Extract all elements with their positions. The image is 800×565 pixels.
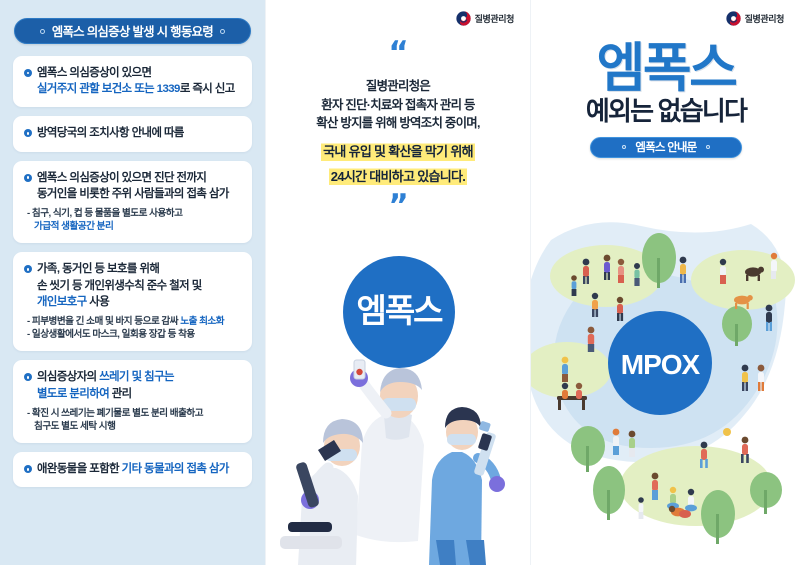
statement-line: 질병관리청은 <box>274 77 522 96</box>
card-line-text: 엠폭스 의심증상이 있으면 진단 전까지 <box>37 172 206 184</box>
statement-highlight-line: 24시간 대비하고 있습니다. <box>329 167 467 187</box>
sub-dash: - <box>27 408 30 419</box>
sub-dash: - <box>27 208 30 219</box>
scientist-with-microscope <box>280 419 363 565</box>
sub-dash: - <box>27 316 30 327</box>
bullet-dot-icon <box>24 174 32 182</box>
page-subtitle: 예외는 없습니다 <box>531 97 800 126</box>
cover-badge: 엠폭스 안내문 <box>590 137 742 158</box>
list-item: 방역당국의 조치사항 안내에 따름 <box>13 116 252 151</box>
list-item: 애완동물을 포함한 기타 동물과의 접촉 삼가 <box>13 452 252 487</box>
action-guide-card-list: 엠폭스 의심증상이 있으면 실거주지 관할 보건소 또는 1339로 즉시 신고… <box>10 56 255 487</box>
card-line-text: 동거인을 비롯한 주위 사람들과의 접촉 삼가 <box>37 188 229 200</box>
taegeuk-logo-icon <box>726 11 741 26</box>
sub-text: 피부병변을 긴 소매 및 바지 등으로 감싸 <box>32 316 180 327</box>
card-line-text: 손 씻기 등 개인위생수칙 준수 철저 및 <box>37 280 202 292</box>
sub-text: 확진 시 쓰레기는 폐기물로 별도 분리 배출하고 <box>32 408 203 419</box>
list-item: 의심증상자의 쓰레기 및 침구는 별도로 분리하여 관리 - 확진 시 쓰레기는… <box>13 360 252 443</box>
circle-outline-icon <box>706 145 711 150</box>
card-line-text: 관리 <box>109 388 131 400</box>
circle-outline-icon <box>622 145 627 150</box>
kdca-logo-label: 질병관리청 <box>475 12 514 25</box>
left-panel-header-label: 엠폭스 의심증상 발생 시 행동요령 <box>52 22 213 40</box>
statement-line: 환자 진단·치료와 접촉자 관리 등 <box>274 96 522 115</box>
card-line-text: 애완동물을 포함한 <box>37 463 122 475</box>
card-line-highlight: 실거주지 관할 보건소 또는 1339 <box>37 83 180 95</box>
card-line-text: 엠폭스 의심증상이 있으면 <box>37 67 151 79</box>
circle-outline-icon <box>220 29 225 34</box>
quote-open-icon: “ <box>266 38 530 69</box>
statement-highlight-line: 국내 유입 및 확산을 막기 위해 <box>321 142 475 162</box>
card-line-text: 방역당국의 조치사항 안내에 따름 <box>37 127 184 139</box>
statement-line: 확산 방지를 위해 방역조치 중이며, <box>274 114 522 133</box>
virus-label-mid: 엠폭스 <box>356 292 443 329</box>
kdca-logo: 질병관리청 <box>726 11 784 26</box>
page-title: 엠폭스 <box>531 42 800 95</box>
sub-text: 침구, 식기, 컵 등 물품을 별도로 사용하고 <box>32 208 183 219</box>
card-line-text: 의심증상자의 <box>37 371 99 383</box>
bullet-dot-icon <box>24 373 32 381</box>
cover-badge-label: 엠폭스 안내문 <box>635 139 696 155</box>
mpox-community-illustration: MPOX <box>531 200 800 565</box>
taegeuk-logo-icon <box>456 11 471 26</box>
card-line-highlight: 별도로 분리하여 <box>37 388 109 400</box>
sub-text: 침구도 별도 세탁 시행 <box>34 421 115 432</box>
researcher-with-sample-vial <box>350 360 424 542</box>
sub-dash: - <box>27 329 30 340</box>
kdca-logo-label: 질병관리청 <box>745 12 784 25</box>
cover-title-block: 엠폭스 예외는 없습니다 엠폭스 안내문 <box>531 42 800 158</box>
card-line-text: 로 즉시 신고 <box>180 83 235 95</box>
left-panel-header-badge: 엠폭스 의심증상 발생 시 행동요령 <box>14 18 251 44</box>
virus-and-medical-staff-illustration: 엠폭스 <box>266 200 530 565</box>
bullet-dot-icon <box>24 129 32 137</box>
card-line-highlight: 쓰레기 및 침구는 <box>99 371 174 383</box>
list-item: 엠폭스 의심증상이 있으면 실거주지 관할 보건소 또는 1339로 즉시 신고 <box>13 56 252 107</box>
list-item: 가족, 동거인 등 보호를 위해 손 씻기 등 개인위생수칙 준수 철저 및 개… <box>13 252 252 351</box>
sub-text: 일상생활에서도 마스크, 일회용 장갑 등 착용 <box>32 329 195 340</box>
sub-text-highlight: 노출 최소화 <box>180 316 224 327</box>
right-panel-cover: 질병관리청 엠폭스 예외는 없습니다 엠폭스 안내문 <box>530 0 800 565</box>
card-line-text: 가족, 동거인 등 보호를 위해 <box>37 263 159 275</box>
mpox-infographic-poster: 엠폭스 의심증상 발생 시 행동요령 엠폭스 의심증상이 있으면 실거주지 관할… <box>0 0 800 565</box>
nurse-with-syringe <box>429 407 505 565</box>
virus-label-right: MPOX <box>621 349 701 380</box>
bullet-dot-icon <box>24 69 32 77</box>
circle-outline-icon <box>40 29 45 34</box>
bullet-dot-icon <box>24 465 32 473</box>
card-line-highlight: 기타 동물과의 접촉 삼가 <box>122 463 229 475</box>
left-panel-action-guide: 엠폭스 의심증상 발생 시 행동요령 엠폭스 의심증상이 있으면 실거주지 관할… <box>0 0 265 565</box>
list-item: 엠폭스 의심증상이 있으면 진단 전까지 동거인을 비롯한 주위 사람들과의 접… <box>13 161 252 244</box>
card-line-text: 사용 <box>87 296 109 308</box>
kdca-logo: 질병관리청 <box>456 11 514 26</box>
middle-panel-statement: 질병관리청 “ 질병관리청은 환자 진단·치료와 접촉자 관리 등 확산 방지를… <box>265 0 530 565</box>
statement-text-block: 질병관리청은 환자 진단·치료와 접촉자 관리 등 확산 방지를 위해 방역조치… <box>266 77 530 186</box>
card-line-highlight: 개인보호구 <box>37 296 87 308</box>
bullet-dot-icon <box>24 265 32 273</box>
sub-text-highlight: 가급적 생활공간 분리 <box>34 221 113 232</box>
